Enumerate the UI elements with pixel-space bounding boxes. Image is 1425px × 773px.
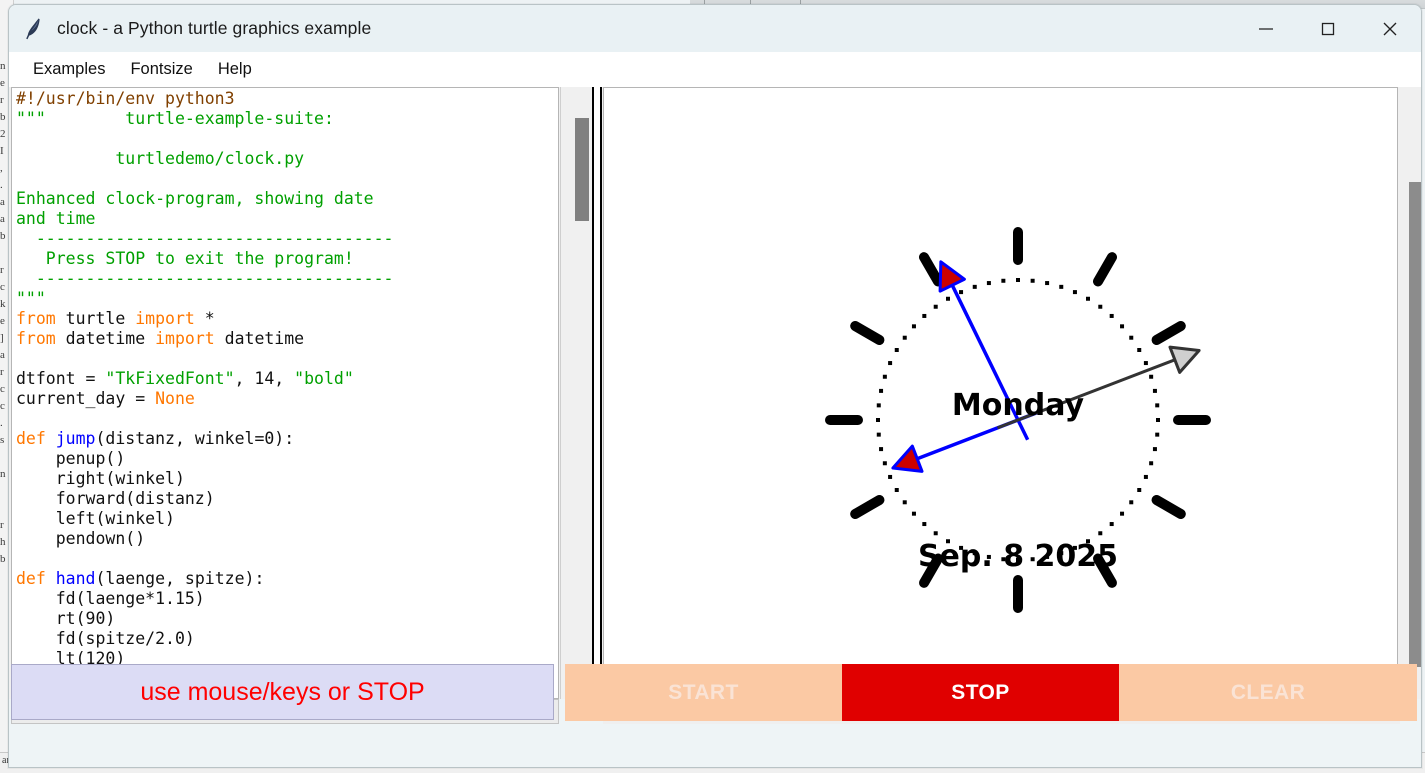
clear-button[interactable]: CLEAR: [1119, 664, 1417, 721]
python-feather-icon: [23, 16, 45, 42]
panes-container: #!/usr/bin/env python3 """ turtle-exampl…: [9, 87, 1421, 699]
clock-date-label: Sep. 8 2025: [918, 539, 1118, 574]
code-editor-pane[interactable]: #!/usr/bin/env python3 """ turtle-exampl…: [11, 87, 559, 699]
canvas-vertical-scrollbar-thumb[interactable]: [1409, 182, 1422, 667]
menu-help[interactable]: Help: [207, 57, 263, 82]
code-vertical-scrollbar-thumb[interactable]: [575, 118, 589, 221]
menubar: Examples Fontsize Help: [9, 52, 1421, 87]
titlebar[interactable]: clock - a Python turtle graphics example: [9, 5, 1421, 52]
clock-drawing: Monday Sep. 8 2025: [604, 88, 1397, 698]
stop-button[interactable]: STOP: [842, 664, 1119, 721]
bottom-bar: use mouse/keys or STOP START STOP CLEAR: [9, 664, 1421, 722]
menu-examples[interactable]: Examples: [22, 57, 116, 82]
close-button[interactable]: [1359, 5, 1421, 52]
minimize-button[interactable]: [1235, 5, 1297, 52]
start-button[interactable]: START: [565, 664, 842, 721]
window-controls: [1235, 5, 1421, 52]
clock-demo-window: clock - a Python turtle graphics example…: [8, 4, 1422, 768]
canvas-vertical-scrollbar[interactable]: [1401, 87, 1422, 699]
control-buttons: START STOP CLEAR: [565, 664, 1417, 721]
source-code-text: #!/usr/bin/env python3 """ turtle-exampl…: [16, 89, 559, 699]
pane-sash-divider[interactable]: [592, 87, 602, 699]
window-title: clock - a Python turtle graphics example: [57, 18, 371, 39]
maximize-button[interactable]: [1297, 5, 1359, 52]
menu-fontsize[interactable]: Fontsize: [119, 57, 203, 82]
code-vertical-scrollbar[interactable]: [560, 87, 592, 699]
turtle-canvas-pane[interactable]: Monday Sep. 8 2025: [603, 87, 1398, 699]
status-message-box: use mouse/keys or STOP: [11, 664, 554, 720]
clock-weekday-label: Monday: [952, 388, 1085, 423]
status-message: use mouse/keys or STOP: [140, 678, 424, 707]
